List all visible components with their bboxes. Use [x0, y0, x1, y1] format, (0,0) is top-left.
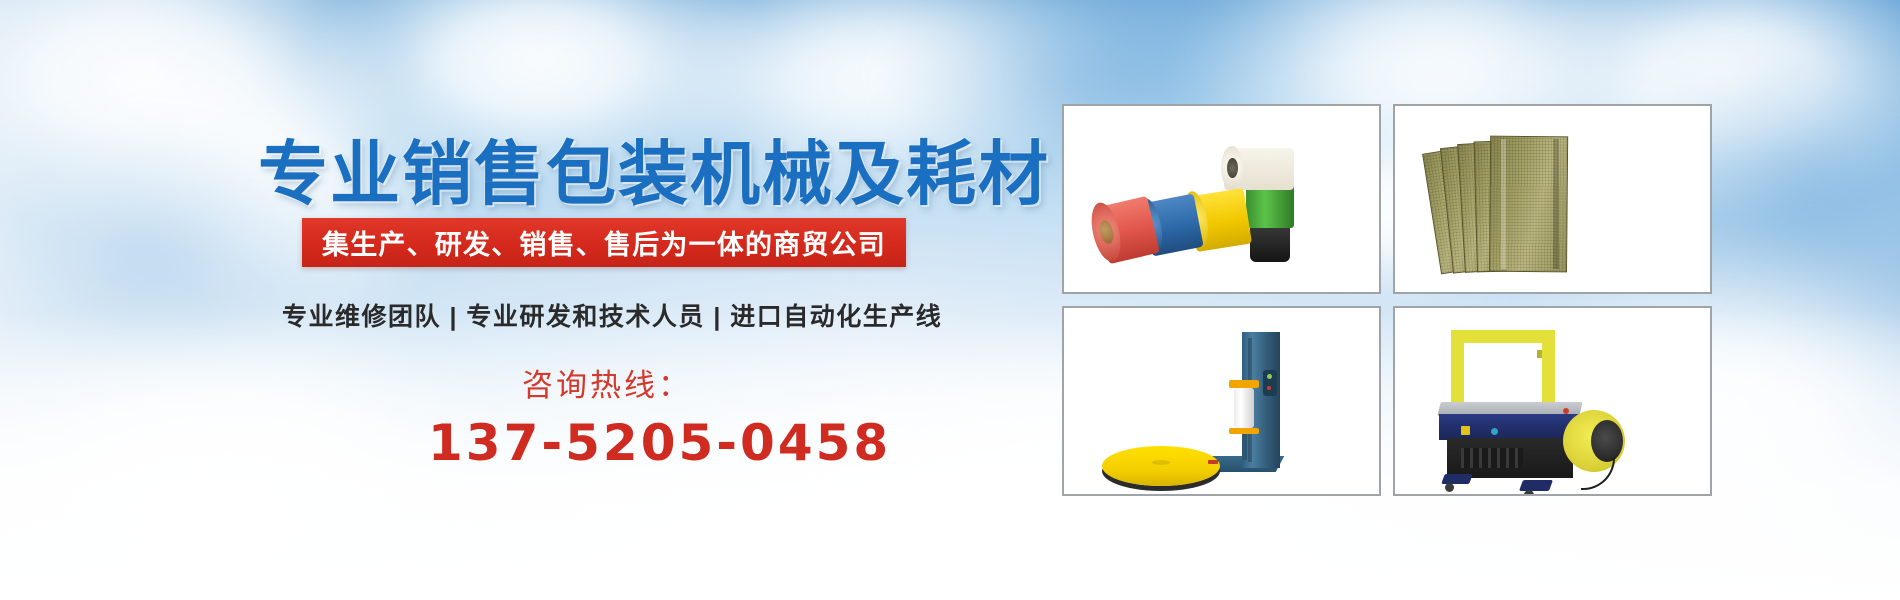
tagline-text: 集生产、研发、销售、售后为一体的商贸公司 [322, 223, 886, 262]
stretch-wrapper-illustration [1064, 308, 1379, 494]
feature-list-text: 专业维修团队 | 专业研发和技术人员 | 进口自动化生产线 [282, 297, 942, 333]
sack-fold-shadow [1553, 139, 1559, 269]
cabinet-vent [1461, 448, 1523, 468]
machine-stop-button[interactable] [1563, 408, 1569, 414]
warning-label [1461, 426, 1470, 435]
film-carriage-top [1229, 380, 1259, 388]
indicator-light [1491, 428, 1498, 435]
product-card-stretch-wrapper[interactable] [1062, 306, 1381, 496]
turntable-logo [1208, 460, 1218, 464]
caster-wheel-left [1445, 483, 1454, 492]
caster-wheel-right [1524, 490, 1534, 496]
panel-button-green [1267, 374, 1272, 379]
product-card-woven-sacks[interactable] [1393, 104, 1712, 294]
product-card-strapping-machine[interactable] [1393, 306, 1712, 496]
stretch-film-roll [1234, 388, 1254, 428]
power-cable [1581, 458, 1615, 490]
sack-fold-highlight [1501, 139, 1506, 269]
banner-text-block: 专业销售包装机械及耗材 集生产、研发、销售、售后为一体的商贸公司 专业维修团队 … [0, 0, 1060, 600]
product-image-grid [1062, 104, 1712, 496]
arch-sensor [1537, 350, 1542, 358]
tagline-ribbon: 集生产、研发、销售、售后为一体的商贸公司 [302, 218, 906, 267]
machine-arch [1451, 330, 1555, 406]
machine-leg-left [1441, 474, 1473, 484]
strapping-machine-illustration [1395, 308, 1710, 494]
hotline-label: 咨询热线： [522, 360, 692, 405]
product-card-strapping-rolls[interactable] [1062, 104, 1381, 294]
strap-reel-hub [1591, 420, 1623, 462]
banner-headline: 专业销售包装机械及耗材 [258, 118, 1050, 219]
turntable [1102, 446, 1220, 486]
machine-leg-right [1519, 480, 1553, 491]
roll-black [1250, 224, 1290, 262]
roll-white-hub [1227, 158, 1238, 178]
panel-button-red [1267, 386, 1271, 390]
turntable-center-mark [1152, 460, 1170, 465]
woven-sacks-illustration [1395, 106, 1710, 292]
strapping-rolls-illustration [1064, 106, 1379, 292]
roll-green [1246, 184, 1294, 228]
carriage-rod [1242, 434, 1247, 460]
promo-banner: 专业销售包装机械及耗材 集生产、研发、销售、售后为一体的商贸公司 专业维修团队 … [0, 0, 1900, 600]
hotline-phone-number[interactable]: 137-5205-0458 [428, 414, 891, 472]
